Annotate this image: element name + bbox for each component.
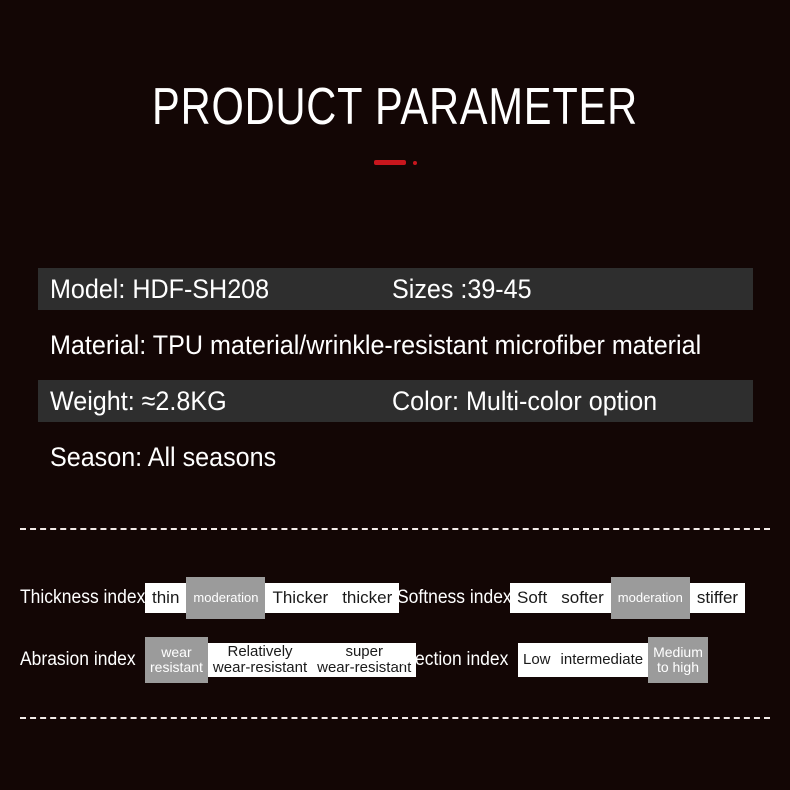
index-row-protection: Protection index LowintermediateMediumto… (383, 637, 708, 683)
spec-row: Season: All seasons (0, 436, 790, 478)
index-cell-line: Relatively (228, 644, 293, 660)
spec-row: Weight: ≈2.8KGColor: Multi-color option (38, 380, 753, 422)
page-header: PRODUCT PARAMETER (0, 78, 790, 136)
index-label-thickness: Thickness index (20, 587, 135, 609)
index-label-protection: Protection index (383, 649, 507, 671)
spec-row: Material: TPU material/wrinkle-resistant… (0, 324, 790, 366)
index-cell-line: intermediate (561, 652, 644, 668)
section-divider-bottom (20, 717, 770, 719)
index-row-thickness: Thickness index thinmoderationThickerthi… (20, 575, 399, 621)
index-cell[interactable]: Low (518, 643, 556, 677)
index-cell-line: moderation (618, 591, 683, 605)
index-bar-abrasion: wearresistantRelativelywear-resistantsup… (145, 643, 416, 677)
index-cell-line: wear (161, 645, 191, 660)
index-cell-line: to high (657, 660, 699, 675)
index-bar-softness: Softsoftermoderationstiffer (510, 583, 745, 613)
index-cell[interactable]: Thicker (265, 583, 335, 613)
index-bar-protection: LowintermediateMediumto high (518, 643, 708, 677)
index-cell-active[interactable]: moderation (186, 577, 265, 619)
spec-text: Weight: ≈2.8KG (50, 386, 368, 416)
title-divider (0, 160, 790, 165)
index-row-abrasion: Abrasion index wearresistantRelativelywe… (20, 637, 416, 683)
index-cell-line: super (345, 644, 383, 660)
index-cell[interactable]: thin (145, 583, 186, 613)
index-label-abrasion: Abrasion index (20, 649, 135, 671)
index-cell-line: softer (561, 589, 604, 607)
index-cell-line: Low (523, 652, 551, 668)
spec-list: Model: HDF-SH208Sizes :39-45Material: TP… (0, 268, 790, 492)
spec-row: Model: HDF-SH208Sizes :39-45 (38, 268, 753, 310)
index-cell-active[interactable]: wearresistant (145, 637, 208, 683)
index-cell-line: resistant (150, 660, 203, 675)
spec-text: Material: TPU material/wrinkle-resistant… (50, 330, 701, 360)
divider-dash-icon (374, 160, 406, 165)
index-cell-active[interactable]: moderation (611, 577, 690, 619)
index-cell-line: moderation (193, 591, 258, 605)
index-cell[interactable]: Relativelywear-resistant (208, 643, 312, 677)
index-label-softness: Softness index (397, 587, 501, 609)
index-cell-line: Thicker (272, 589, 328, 607)
divider-dot-icon (413, 161, 417, 165)
section-divider-top (20, 528, 770, 530)
spec-text: Sizes :39-45 (392, 274, 728, 304)
index-cell-line: Medium (653, 645, 703, 660)
spec-text: Model: HDF-SH208 (50, 274, 368, 304)
spec-text: Season: All seasons (50, 442, 276, 472)
index-cell[interactable]: stiffer (690, 583, 745, 613)
index-row-softness: Softness index Softsoftermoderationstiff… (397, 575, 745, 621)
index-cell[interactable]: thicker (335, 583, 399, 613)
index-cell-active[interactable]: Mediumto high (648, 637, 708, 683)
page-title: PRODUCT PARAMETER (79, 78, 711, 136)
index-cell[interactable]: Soft (510, 583, 554, 613)
index-cell-line: thin (152, 589, 179, 607)
index-bar-thickness: thinmoderationThickerthicker (145, 583, 399, 613)
index-cell[interactable]: softer (554, 583, 611, 613)
index-cell-line: wear-resistant (213, 660, 307, 676)
spec-text: Color: Multi-color option (392, 386, 728, 416)
index-cell[interactable]: intermediate (556, 643, 649, 677)
index-cell-line: thicker (342, 589, 392, 607)
index-cell-line: stiffer (697, 589, 738, 607)
index-cell-line: Soft (517, 589, 547, 607)
